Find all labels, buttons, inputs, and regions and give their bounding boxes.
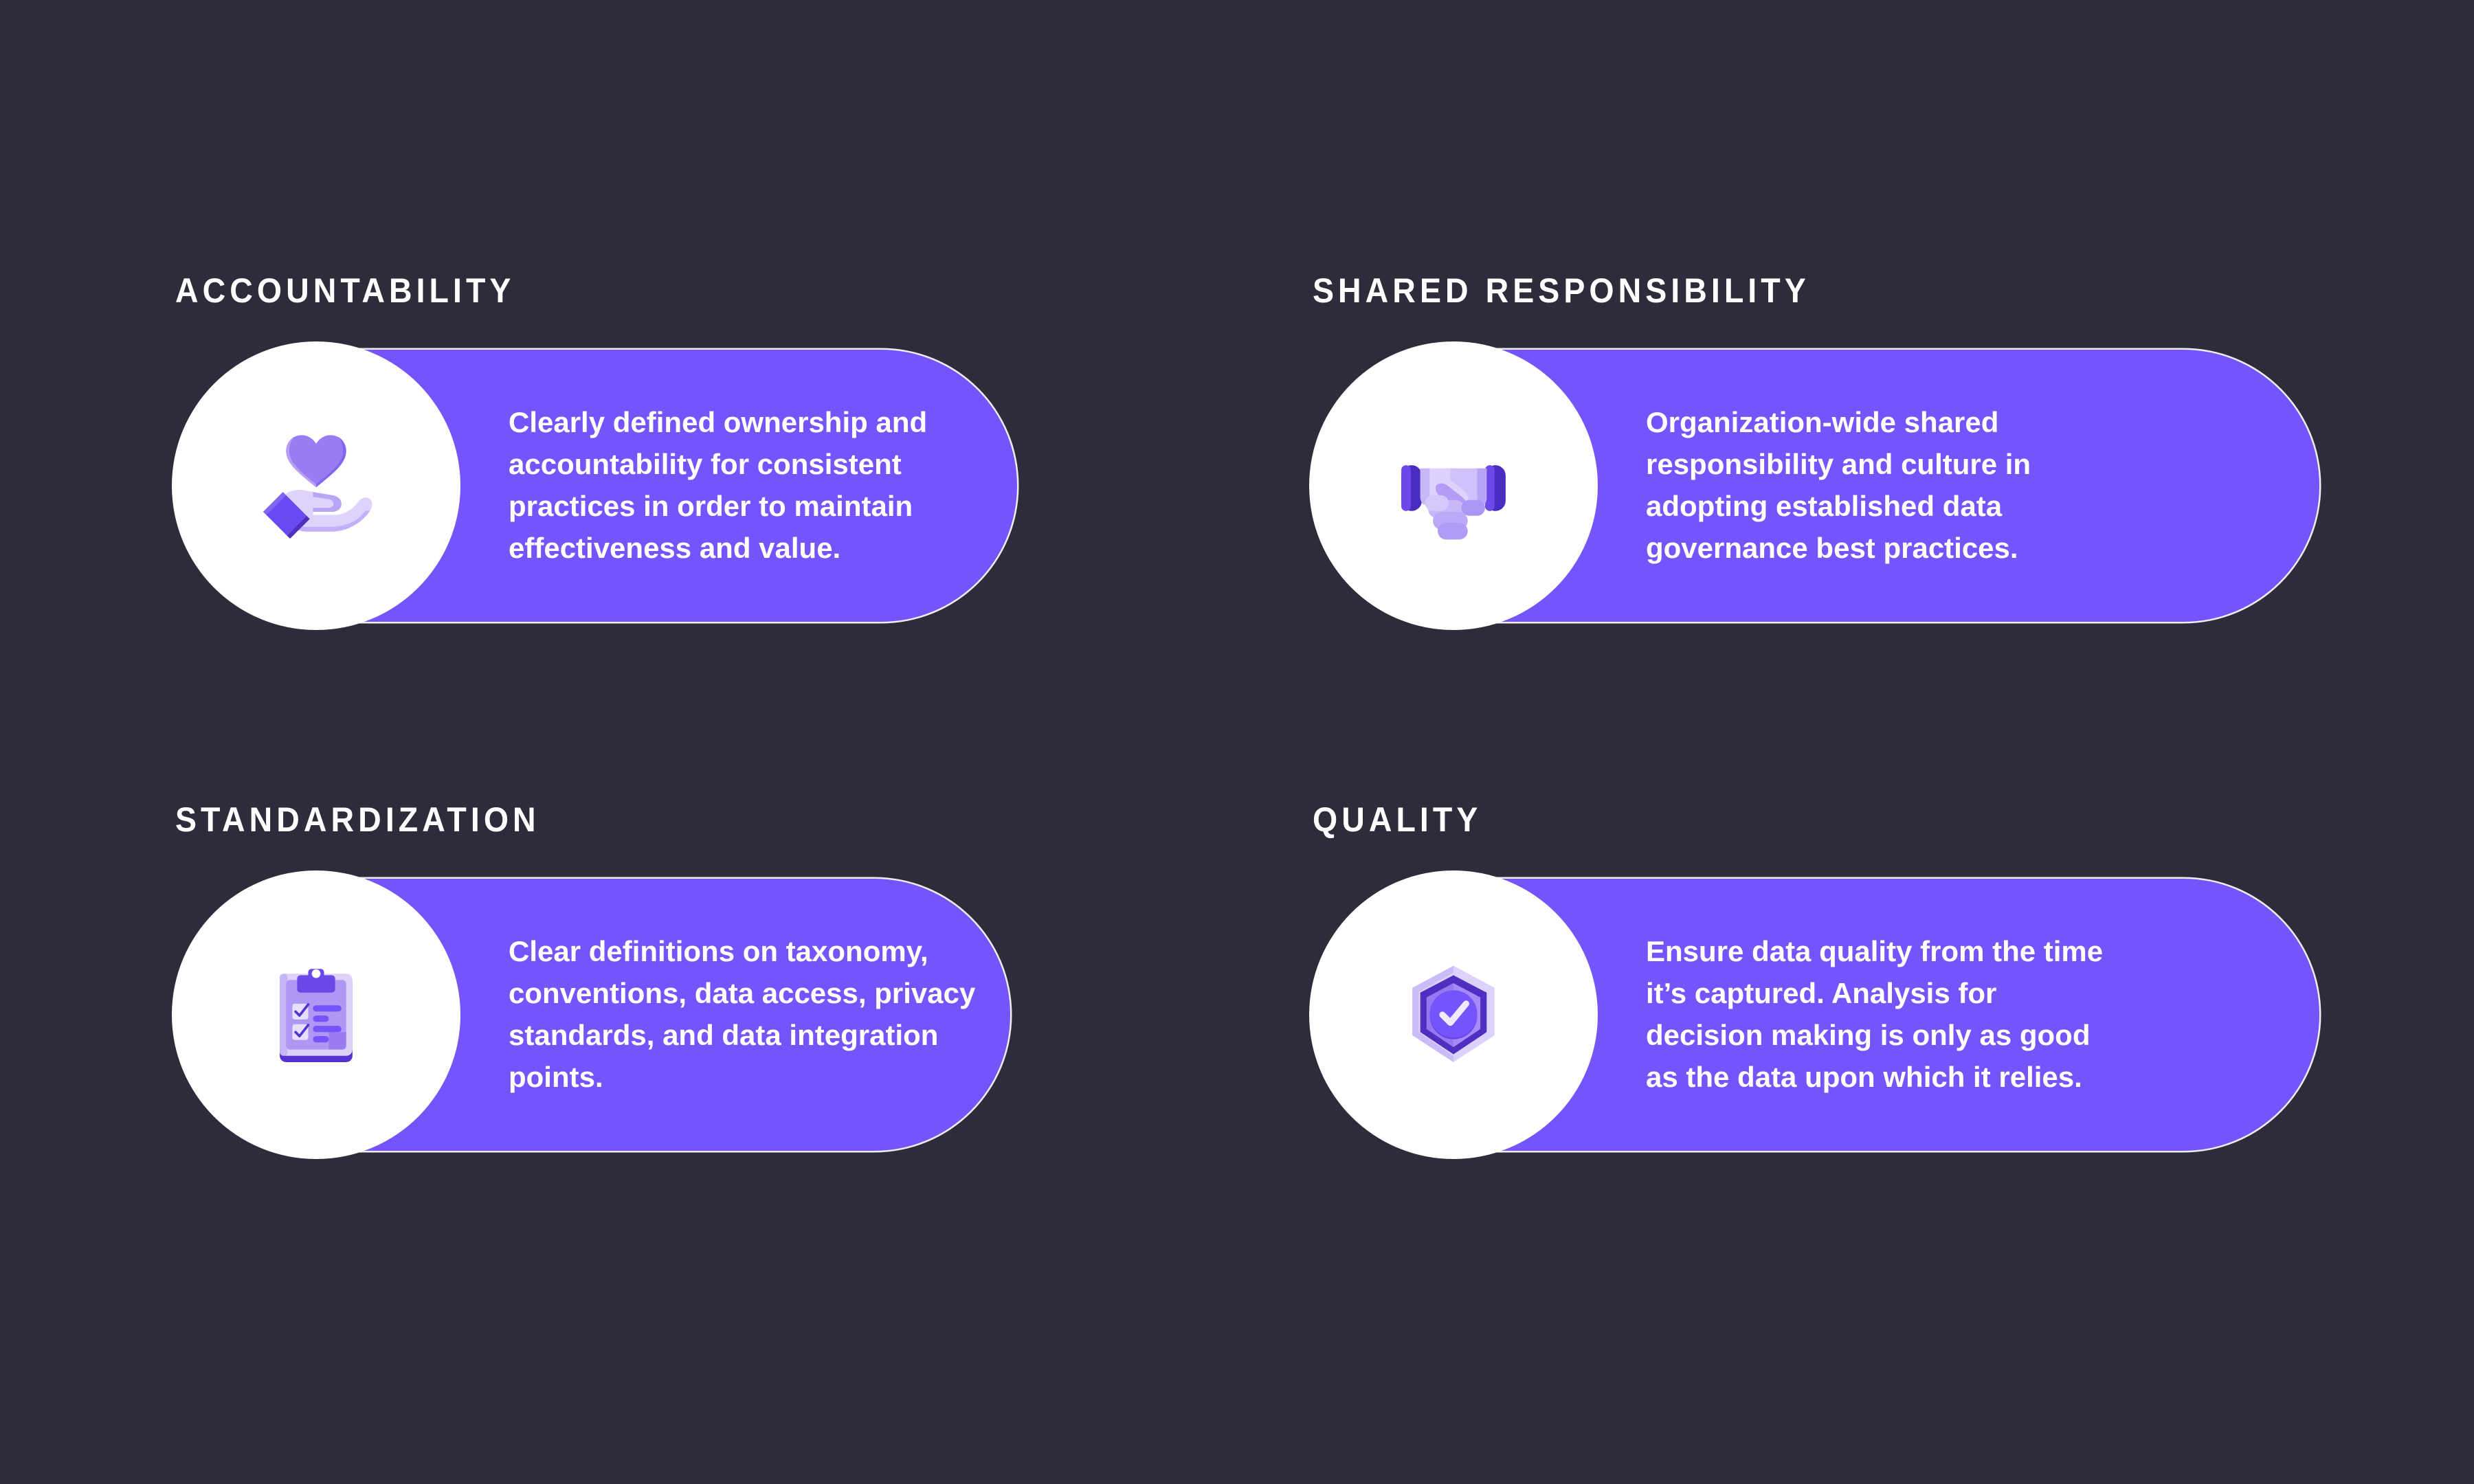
handshake-icon [1374, 407, 1533, 565]
card-heading: STANDARDIZATION [175, 802, 540, 837]
card-pill-wrapper: Ensure data quality from the time it’s c… [1309, 870, 1495, 1159]
card-icon-disc [172, 341, 460, 630]
card-icon-disc [1309, 870, 1598, 1159]
card-heading: SHARED RESPONSIBILITY [1313, 273, 1810, 308]
card-body-text: Organization-wide shared responsibility … [1646, 402, 2086, 570]
principle-card-quality: QUALITY Ensure data quality from the tim… [1309, 802, 1495, 1159]
card-heading: ACCOUNTABILITY [175, 273, 515, 308]
infographic-page: ACCOUNTABILITY Clearly defined ownership… [0, 0, 2474, 1484]
card-pill-wrapper: Clear definitions on taxonomy, conventio… [172, 870, 568, 1159]
clipboard-checklist-icon [237, 936, 395, 1094]
card-body-text: Clearly defined ownership and accountabi… [509, 402, 962, 570]
hand-holding-heart-icon [237, 407, 395, 565]
principle-card-accountability: ACCOUNTABILITY Clearly defined ownership… [172, 273, 541, 630]
card-pill-wrapper: Clearly defined ownership and accountabi… [172, 341, 541, 630]
shield-check-icon [1374, 936, 1533, 1094]
card-body-text: Clear definitions on taxonomy, conventio… [509, 931, 983, 1099]
principles-grid: ACCOUNTABILITY Clearly defined ownership… [0, 0, 2474, 1484]
principle-card-standardization: STANDARDIZATION Clear definitions on tax… [172, 802, 568, 1159]
card-icon-disc [172, 870, 460, 1159]
card-body-text: Ensure data quality from the time it’s c… [1646, 931, 2113, 1099]
principle-card-shared-responsibility: SHARED RESPONSIBILITY Organization-wide … [1309, 273, 1847, 630]
card-heading: QUALITY [1313, 802, 1482, 837]
card-pill-wrapper: Organization-wide shared responsibility … [1309, 341, 1847, 630]
card-icon-disc [1309, 341, 1598, 630]
